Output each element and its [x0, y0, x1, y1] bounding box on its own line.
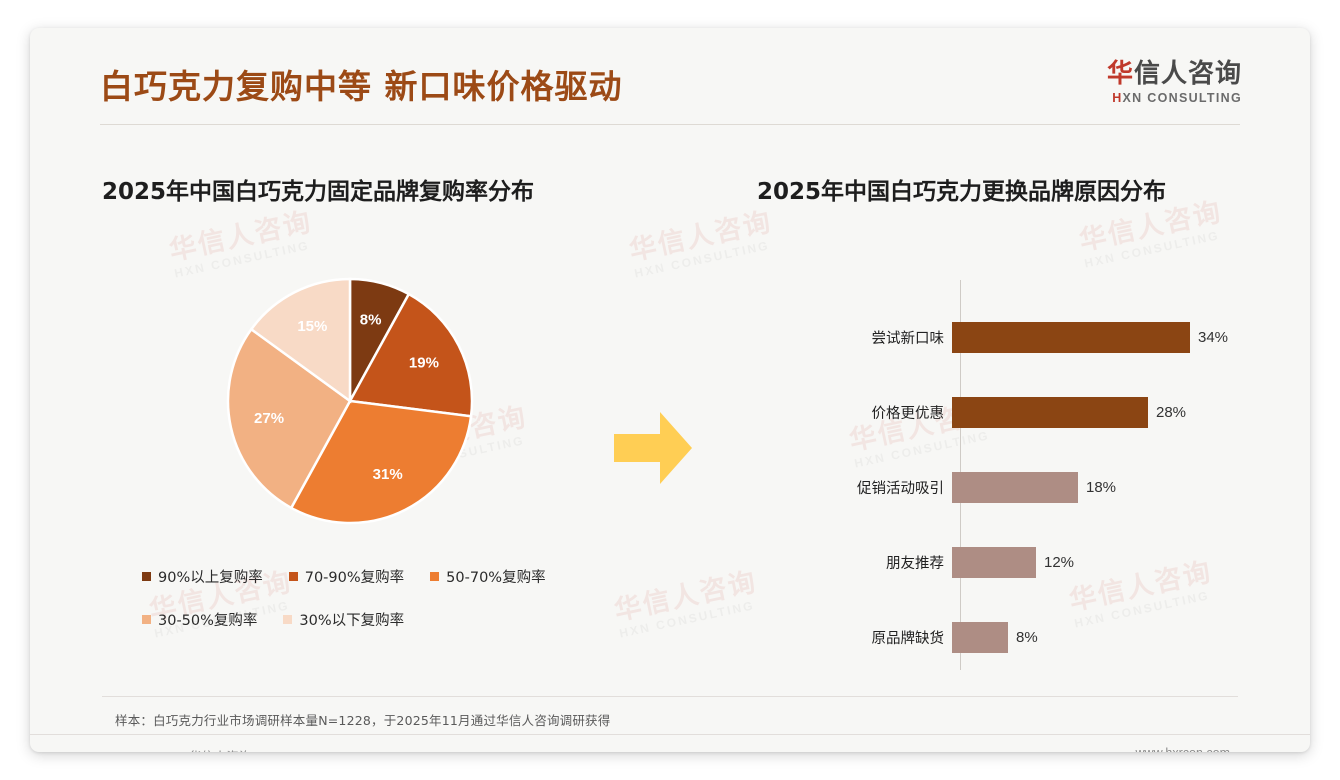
logo-chinese-text: 华信人咨询 — [1107, 60, 1242, 89]
bar-track: 28% — [952, 393, 1290, 431]
legend-item-label: 70-90%复购率 — [305, 566, 404, 587]
bar-value-label: 34% — [1198, 329, 1228, 346]
bar-track: 8% — [952, 618, 1290, 656]
legend-swatch-icon — [430, 572, 439, 581]
legend-item[interactable]: 90%以上复购率 — [142, 566, 263, 587]
legend-item[interactable]: 70-90%复购率 — [289, 566, 404, 587]
legend-row: 90%以上复购率70-90%复购率50-70%复购率 — [142, 566, 612, 587]
website-url[interactable]: www.hxrcon.com — [1136, 746, 1230, 752]
pie-legend: 90%以上复购率70-90%复购率50-70%复购率 30-50%复购率30%以… — [142, 566, 612, 652]
logo-english-text: HXN CONSULTING — [1107, 91, 1242, 105]
bar-fill[interactable] — [952, 547, 1036, 578]
bar-value-label: 12% — [1044, 554, 1074, 571]
bar-chart: 尝试新口味34%价格更优惠28%促销活动吸引18%朋友推荐12%原品牌缺货8% — [830, 280, 1290, 670]
source-divider — [102, 696, 1238, 697]
pie-chart: 8%19%31%27%15% — [225, 276, 475, 526]
bar-fill[interactable] — [952, 472, 1078, 503]
bar-chart-row: 价格更优惠28% — [830, 393, 1290, 431]
bar-value-label: 28% — [1156, 404, 1186, 421]
bar-fill[interactable] — [952, 322, 1190, 353]
pie-chart-title: 2025年中国白巧克力固定品牌复购率分布 — [102, 172, 534, 206]
logo-en-accent: H — [1112, 91, 1122, 105]
right-arrow-icon — [612, 406, 694, 495]
slide-canvas: 华信人咨询HXN CONSULTING华信人咨询HXN CONSULTING华信… — [30, 28, 1310, 752]
bar-chart-title: 2025年中国白巧克力更换品牌原因分布 — [757, 172, 1166, 206]
pie-slice-label: 31% — [373, 466, 403, 483]
bar-value-label: 8% — [1016, 629, 1038, 646]
legend-item-label: 30-50%复购率 — [158, 609, 257, 630]
pie-chart-svg: 8%19%31%27%15% — [225, 276, 475, 526]
legend-item[interactable]: 30%以下复购率 — [283, 609, 404, 630]
legend-item-label: 50-70%复购率 — [446, 566, 545, 587]
pie-slice-label: 27% — [254, 410, 284, 427]
slide-content: 2025年中国白巧克力固定品牌复购率分布 2025年中国白巧克力更换品牌原因分布… — [30, 28, 1310, 752]
source-note: 样本：白巧克力行业市场调研样本量N=1228，于2025年11月通过华信人咨询调… — [115, 710, 610, 729]
copyright-text: ©2026.1 HXR华信人咨询 — [102, 746, 251, 752]
page-root: 华信人咨询HXN CONSULTING华信人咨询HXN CONSULTING华信… — [0, 0, 1340, 780]
bar-category-label: 价格更优惠 — [830, 402, 952, 423]
bar-track: 18% — [952, 468, 1290, 506]
legend-row: 30-50%复购率30%以下复购率 — [142, 609, 612, 630]
bar-category-label: 尝试新口味 — [830, 327, 952, 348]
pie-slice-label: 15% — [297, 318, 327, 335]
footer-divider — [30, 734, 1310, 735]
bar-chart-row: 促销活动吸引18% — [830, 468, 1290, 506]
bar-fill[interactable] — [952, 397, 1148, 428]
bar-track: 12% — [952, 543, 1290, 581]
slide-header: 白巧克力复购中等 新口味价格驱动 华信人咨询 HXN CONSULTING — [30, 28, 1310, 125]
bar-category-label: 朋友推荐 — [830, 552, 952, 573]
bar-category-label: 促销活动吸引 — [830, 477, 952, 498]
logo-en-rest: XN CONSULTING — [1123, 91, 1242, 105]
bar-track: 34% — [952, 318, 1290, 356]
pie-slice-label: 8% — [360, 312, 382, 329]
arrow-svg — [612, 406, 694, 490]
bar-value-label: 18% — [1086, 479, 1116, 496]
legend-swatch-icon — [289, 572, 298, 581]
header-divider — [100, 124, 1240, 125]
legend-item[interactable]: 30-50%复购率 — [142, 609, 257, 630]
legend-swatch-icon — [142, 572, 151, 581]
page-title: 白巧克力复购中等 新口味价格驱动 — [100, 60, 623, 108]
legend-swatch-icon — [142, 615, 151, 624]
company-logo: 华信人咨询 HXN CONSULTING — [1107, 60, 1242, 105]
bar-category-label: 原品牌缺货 — [830, 627, 952, 648]
bar-chart-row: 尝试新口味34% — [830, 318, 1290, 356]
bar-chart-row: 朋友推荐12% — [830, 543, 1290, 581]
legend-item-label: 90%以上复购率 — [158, 566, 263, 587]
logo-rest-chars: 信人咨询 — [1134, 59, 1242, 89]
legend-swatch-icon — [283, 615, 292, 624]
pie-slice-label: 19% — [409, 354, 439, 371]
legend-item-label: 30%以下复购率 — [299, 609, 404, 630]
logo-accent-char: 华 — [1107, 59, 1134, 89]
bar-chart-row: 原品牌缺货8% — [830, 618, 1290, 656]
bar-fill[interactable] — [952, 622, 1008, 653]
legend-item[interactable]: 50-70%复购率 — [430, 566, 545, 587]
